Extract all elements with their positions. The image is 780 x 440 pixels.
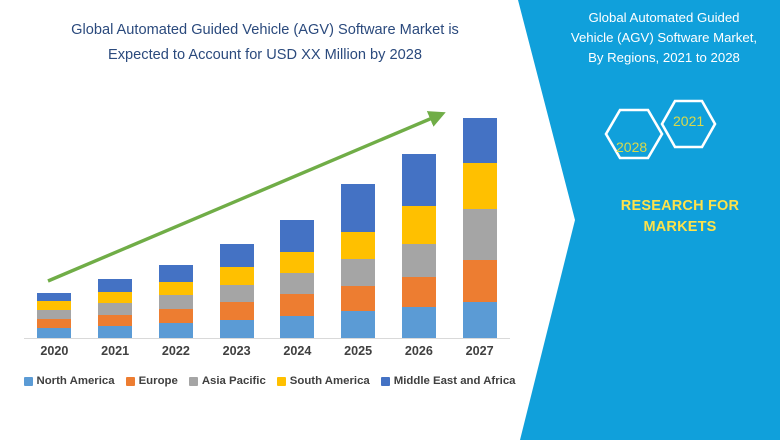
chart-legend: North AmericaEuropeAsia PacificSouth Ame… (22, 375, 517, 387)
legend-item-middle-east-and-africa[interactable]: Middle East and Africa (381, 375, 516, 387)
stacked-bar-plot (24, 96, 510, 339)
axis-baseline (24, 338, 510, 339)
bar-segment[interactable] (220, 320, 254, 339)
x-axis-tick-2020: 2020 (24, 344, 84, 358)
legend-label: South America (290, 375, 370, 387)
hexagon-2021-label: 2021 (673, 113, 704, 129)
bar-segment[interactable] (463, 302, 497, 339)
bar-segment[interactable] (280, 294, 314, 315)
bar-segment[interactable] (463, 209, 497, 261)
bar-segment[interactable] (159, 295, 193, 309)
bar-segment[interactable] (402, 206, 436, 244)
bar-stack (341, 184, 375, 339)
bar-stack (220, 244, 254, 339)
bar-segment[interactable] (159, 282, 193, 296)
bar-group-2026[interactable] (402, 154, 436, 339)
bar-stack (402, 154, 436, 339)
bar-segment[interactable] (159, 309, 193, 324)
bar-segment[interactable] (220, 244, 254, 267)
bar-segment[interactable] (341, 232, 375, 259)
bar-segment[interactable] (37, 310, 71, 319)
chart-title: Global Automated Guided Vehicle (AGV) So… (20, 18, 510, 68)
bar-segment[interactable] (341, 184, 375, 232)
bar-segment[interactable] (220, 285, 254, 302)
legend-label: North America (37, 375, 115, 387)
bar-segment[interactable] (98, 315, 132, 327)
x-axis-tick-2025: 2025 (328, 344, 388, 358)
legend-label: Asia Pacific (202, 375, 266, 387)
hexagon-2028-label: 2028 (616, 139, 647, 155)
infographic-root: Global Automated Guided Vehicle (AGV) So… (0, 0, 780, 440)
x-axis-tick-2026: 2026 (389, 344, 449, 358)
x-axis-tick-2023: 2023 (207, 344, 267, 358)
bar-segment[interactable] (402, 307, 436, 339)
bar-segment[interactable] (37, 319, 71, 329)
legend-item-north-america[interactable]: North America (24, 375, 115, 387)
bar-segment[interactable] (98, 279, 132, 293)
panel-title-line3: By Regions, 2021 to 2028 (588, 50, 740, 65)
bar-segment[interactable] (341, 259, 375, 285)
legend-item-south-america[interactable]: South America (277, 375, 370, 387)
bar-stack (159, 265, 193, 339)
bar-stack (463, 118, 497, 339)
bar-group-2022[interactable] (159, 265, 193, 339)
bar-segment[interactable] (341, 311, 375, 339)
panel-title-line2: Vehicle (AGV) Software Market, (571, 30, 757, 45)
bar-segment[interactable] (402, 154, 436, 206)
legend-swatch-icon (24, 377, 33, 386)
x-axis-labels: 20202021202220232024202520262027 (24, 344, 510, 364)
bar-segment[interactable] (463, 118, 497, 163)
bar-stack (98, 279, 132, 339)
hexagon-badges: 2028 2021 (590, 88, 770, 184)
bar-group-2020[interactable] (37, 293, 71, 339)
bar-segment[interactable] (159, 265, 193, 282)
legend-item-europe[interactable]: Europe (126, 375, 178, 387)
x-axis-tick-2021: 2021 (85, 344, 145, 358)
bar-group-2023[interactable] (220, 244, 254, 339)
bar-stack (280, 220, 314, 339)
bar-segment[interactable] (220, 302, 254, 319)
bar-segment[interactable] (280, 316, 314, 339)
chart-title-line2: Expected to Account for USD XX Million b… (20, 43, 510, 68)
bar-segment[interactable] (402, 277, 436, 307)
brand-wordmark: RESEARCH FOR MARKETS (580, 196, 780, 238)
bar-group-2021[interactable] (98, 279, 132, 339)
bar-segment[interactable] (402, 244, 436, 277)
legend-swatch-icon (381, 377, 390, 386)
bar-group-2024[interactable] (280, 220, 314, 339)
bar-segment[interactable] (341, 286, 375, 311)
legend-label: Europe (139, 375, 178, 387)
bar-segment[interactable] (98, 292, 132, 303)
bar-segment[interactable] (37, 301, 71, 310)
bar-segment[interactable] (98, 303, 132, 315)
bar-segment[interactable] (280, 220, 314, 251)
x-axis-tick-2024: 2024 (267, 344, 327, 358)
bar-segment[interactable] (463, 260, 497, 302)
brand-line-2: MARKETS (643, 219, 716, 235)
bar-segment[interactable] (220, 267, 254, 284)
bar-segment[interactable] (159, 323, 193, 339)
bar-segment[interactable] (463, 163, 497, 209)
x-axis-tick-2027: 2027 (450, 344, 510, 358)
x-axis-tick-2022: 2022 (146, 344, 206, 358)
panel-title: Global Automated Guided Vehicle (AGV) So… (556, 8, 772, 68)
bar-segment[interactable] (280, 273, 314, 294)
bar-group-2027[interactable] (463, 118, 497, 339)
bar-group-2025[interactable] (341, 184, 375, 339)
legend-item-asia-pacific[interactable]: Asia Pacific (189, 375, 266, 387)
bar-segment[interactable] (37, 293, 71, 301)
legend-swatch-icon (277, 377, 286, 386)
bar-segment[interactable] (280, 252, 314, 273)
bar-stack (37, 293, 71, 339)
panel-title-line1: Global Automated Guided (588, 10, 739, 25)
brand-line-1: RESEARCH FOR (621, 198, 739, 214)
legend-swatch-icon (189, 377, 198, 386)
legend-swatch-icon (126, 377, 135, 386)
chart-title-line1: Global Automated Guided Vehicle (AGV) So… (71, 22, 459, 38)
legend-label: Middle East and Africa (394, 375, 516, 387)
